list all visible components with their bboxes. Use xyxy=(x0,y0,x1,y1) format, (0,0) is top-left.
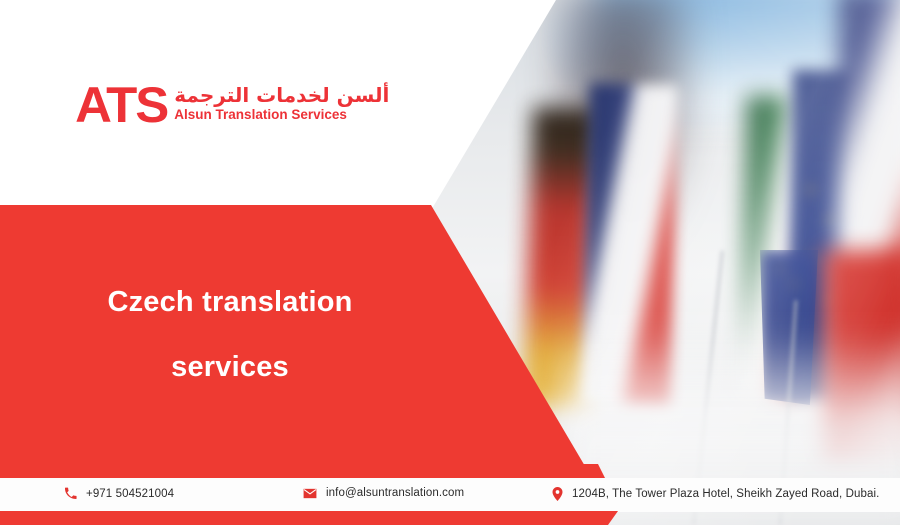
map-pin-icon xyxy=(552,487,563,501)
page-title: Czech translation services xyxy=(60,288,400,382)
page-title-line-1: Czech translation xyxy=(60,288,400,317)
flag-france xyxy=(582,83,678,405)
flag-foreground-red xyxy=(824,250,900,460)
contact-phone[interactable]: +971 504521004 xyxy=(64,487,174,500)
contact-address[interactable]: 1204B, The Tower Plaza Hotel, Sheikh Zay… xyxy=(552,487,879,501)
contact-email[interactable]: info@alsuntranslation.com xyxy=(303,487,464,499)
company-logo[interactable]: ATS ألسن لخدمات الترجمة Alsun Translatio… xyxy=(76,76,396,134)
flag-italy xyxy=(741,95,806,396)
marketing-banner: ATS ألسن لخدمات الترجمة Alsun Translatio… xyxy=(0,0,900,525)
logo-wordmark: ألسن لخدمات الترجمة Alsun Translation Se… xyxy=(174,85,389,125)
envelope-icon xyxy=(303,488,317,499)
footer-accent-bottom xyxy=(0,511,640,525)
page-title-line-2: services xyxy=(60,353,400,382)
contact-email-value: info@alsuntranslation.com xyxy=(326,487,464,499)
flag-russia xyxy=(832,0,900,421)
logo-english-name: Alsun Translation Services xyxy=(174,107,389,123)
screen-glow xyxy=(600,0,900,130)
logo-abbreviation: ATS xyxy=(75,80,167,130)
flag-european-union xyxy=(787,69,857,400)
contact-address-value: 1204B, The Tower Plaza Hotel, Sheikh Zay… xyxy=(572,488,879,500)
contact-phone-value: +971 504521004 xyxy=(86,488,174,500)
logo-arabic-name: ألسن لخدمات الترجمة xyxy=(174,85,389,106)
blurred-person xyxy=(548,0,698,240)
phone-icon xyxy=(64,487,77,500)
flag-eu-lower xyxy=(760,250,818,405)
flag-germany xyxy=(523,107,599,409)
